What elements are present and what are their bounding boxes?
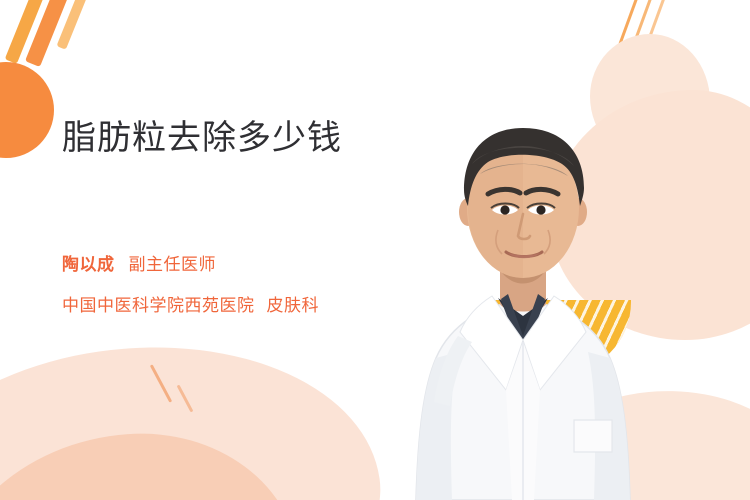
doctor-title: 副主任医师 <box>129 255 217 274</box>
text-block: 脂肪粒去除多少钱 陶以成副主任医师 中国中医科学院西苑医院皮肤科 <box>62 0 492 500</box>
orange-circle-icon <box>0 62 54 158</box>
medical-info-banner: 脂肪粒去除多少钱 陶以成副主任医师 中国中医科学院西苑医院皮肤科 <box>0 0 750 500</box>
doctor-name: 陶以成 <box>62 255 115 274</box>
page-title: 脂肪粒去除多少钱 <box>62 118 342 159</box>
department-name: 皮肤科 <box>267 296 320 315</box>
doctor-byline: 陶以成副主任医师 <box>62 250 216 275</box>
hospital-name: 中国中医科学院西苑医院 <box>62 296 255 315</box>
doctor-affiliation: 中国中医科学院西苑医院皮肤科 <box>62 291 319 316</box>
